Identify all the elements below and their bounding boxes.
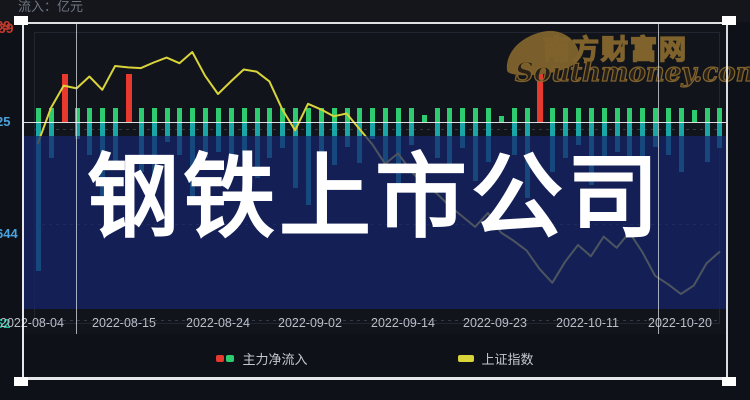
legend-item[interactable]: 上证指数 — [458, 349, 534, 368]
x-axis-tick-label: 2022-09-14 — [371, 316, 435, 330]
crosshair-vertical-right — [658, 24, 659, 334]
crosshair-vertical-left — [76, 24, 77, 334]
unit-label: 流入：亿元 — [18, 0, 83, 15]
y-axis-tick-label: 39 — [0, 18, 10, 33]
footer-band — [0, 382, 750, 400]
y-axis-labels: 392564462 — [0, 24, 40, 334]
x-axis-tick-label: 2022-09-23 — [463, 316, 527, 330]
y-axis-tick-label: 25 — [0, 114, 10, 129]
crosshair-horizontal — [24, 122, 726, 123]
legend-label: 主力净流入 — [242, 349, 307, 368]
x-axis-tick-label: 2022-08-15 — [92, 316, 156, 330]
y-axis-tick-label: 644 — [0, 226, 18, 241]
line-series-shanghai-index — [24, 24, 726, 334]
legend-marker-icon — [458, 355, 474, 362]
legend-swatch — [216, 355, 224, 362]
chart-legend: 主力净流入上证指数 — [0, 346, 750, 370]
screenshot-root: 流入：亿元 39 南方财富网 Southmoney.com 钢铁上市公司 392… — [0, 0, 750, 400]
header-strip: 流入：亿元 — [0, 0, 750, 22]
legend-item[interactable]: 主力净流入 — [216, 349, 307, 368]
selection-edge-bottom — [22, 377, 728, 380]
chart-canvas[interactable] — [24, 24, 726, 334]
legend-label: 上证指数 — [482, 349, 534, 368]
x-axis-tick-label: 2022-10-11 — [556, 316, 619, 330]
legend-marker-icon — [216, 355, 234, 362]
x-axis-tick-label: 2022-08-24 — [186, 316, 250, 330]
legend-swatch — [458, 355, 474, 362]
x-axis-labels: 2022-08-042022-08-152022-08-242022-09-02… — [0, 316, 750, 338]
x-axis-tick-label: 2022-09-02 — [278, 316, 342, 330]
x-axis-tick-label: 2022-08-04 — [0, 316, 64, 330]
legend-swatch — [226, 355, 234, 362]
